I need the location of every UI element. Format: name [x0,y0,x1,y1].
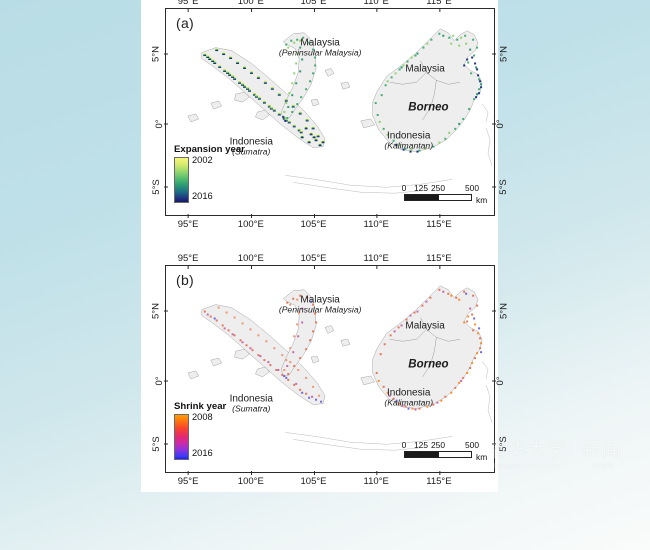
legend-shrink-year: Shrink year 2008 2016 [174,401,226,460]
watermark-tsinghua-news: 清华大学 Tsinghua University 新闻 NEWS [487,424,647,480]
scalebar-label-125-b: 125 [414,440,428,450]
watermark-section: 新闻 NEWS [582,435,622,470]
place-label-kalimantan: Indonesia (Kalimantan) [384,130,433,151]
panel-label-b: (b) [176,272,194,288]
place-label-sumatra-b: Indonesia (Sumatra) [230,394,273,415]
watermark-university-cn: 清华大学 [487,435,567,462]
legend-expansion-year: Expansion year 2002 2016 [174,144,245,203]
map-panel-b: (b) Malaysia (Peninsular Malaysia) Indon… [165,265,495,473]
scalebar-label-0-b: 0 [402,440,407,450]
scalebar-a: 0 125 250 500 km [404,183,472,201]
legend-title-expansion: Expansion year [174,144,245,155]
map-frame-a: (a) Malaysia (Peninsular Malaysia) Indon… [165,8,495,216]
lat-axis-right-b: 5°N 0° 5°S [496,265,510,473]
watermark-divider [574,439,575,465]
map-panel-a: (a) Malaysia (Peninsular Malaysia) Indon… [165,8,495,216]
scalebar-unit-a: km [476,195,487,205]
colorbar-expansion [174,157,189,203]
scalebar-label-250-b: 250 [431,440,445,450]
place-label-peninsular-malaysia-b: Malaysia (Peninsular Malaysia) [279,295,362,316]
legend-max-label-shrink: 2008 [192,412,213,422]
scalebar-label-500-b: 500 [465,440,479,450]
panel-label-a: (a) [176,15,194,31]
scalebar-label-250: 250 [431,183,445,193]
scalebar-filled-segment [405,195,439,200]
watermark-section-cn: 新闻 [582,435,622,462]
watermark-university-en: Tsinghua University [493,463,562,470]
place-label-malaysia-borneo-b: Malaysia [405,320,444,331]
legend-min-label-expansion: 2016 [192,191,213,201]
scalebar-unit-b: km [476,452,487,462]
watermark-section-en: NEWS [591,463,613,470]
place-label-peninsular-malaysia: Malaysia (Peninsular Malaysia) [279,38,362,59]
watermark-university: 清华大学 Tsinghua University [487,435,567,470]
scalebar-label-500: 500 [465,183,479,193]
scalebar-label-125: 125 [414,183,428,193]
scalebar-label-0: 0 [402,183,407,193]
place-label-borneo-b: Borneo [408,358,448,371]
legend-max-label-expansion: 2002 [192,155,213,165]
legend-title-shrink: Shrink year [174,401,226,412]
place-label-kalimantan-b: Indonesia (Kalimantan) [384,387,433,408]
place-label-borneo: Borneo [408,101,448,114]
lat-axis-right-a: 5°N 0° 5°S [496,8,510,216]
scalebar-b: 0 125 250 500 km [404,440,472,458]
scalebar-track-b: km [404,451,472,458]
place-label-malaysia-borneo: Malaysia [405,63,444,74]
scalebar-filled-segment-b [405,452,439,457]
scalebar-track-a: km [404,194,472,201]
legend-min-label-shrink: 2016 [192,448,213,458]
map-frame-b: (b) Malaysia (Peninsular Malaysia) Indon… [165,265,495,473]
colorbar-shrink [174,414,189,460]
